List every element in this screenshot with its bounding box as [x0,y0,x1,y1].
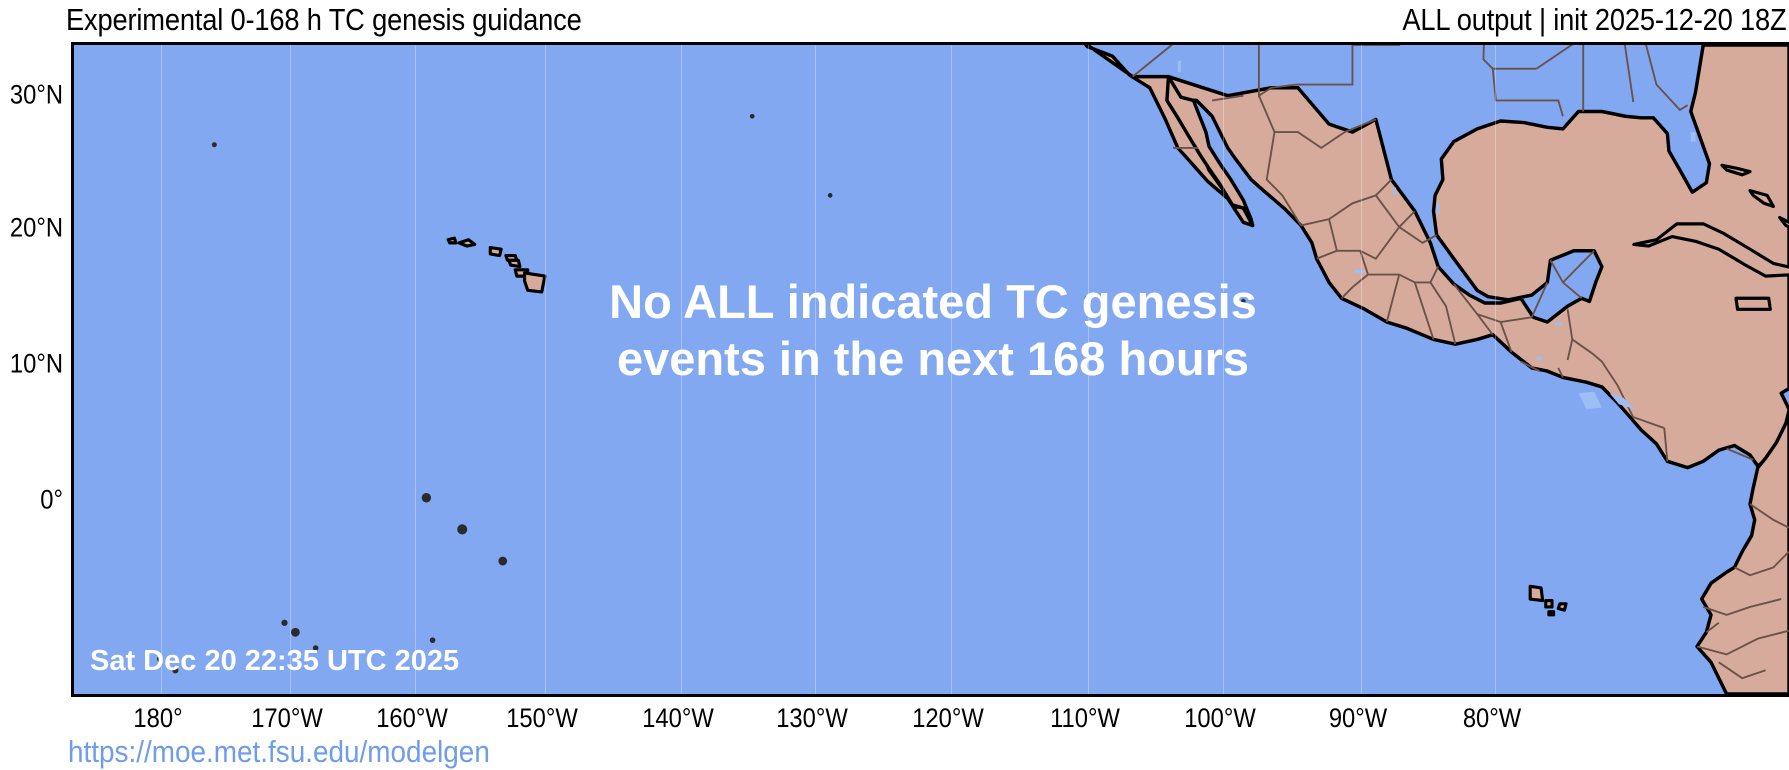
y-tick-label: 0° [40,485,63,516]
timestamp-label: Sat Dec 20 22:35 UTC 2025 [90,645,459,678]
island-group-hawaii [448,238,545,292]
x-tick-label: 180° [133,703,182,734]
x-tick-label: 130°W [776,703,848,734]
x-tick-label: 150°W [506,703,578,734]
page-title: Experimental 0-168 h TC genesis guidance [66,2,582,38]
x-tick-label: 90°W [1329,703,1387,734]
output-init-label: ALL output | init 2025-12-20 18Z [1403,2,1787,38]
source-url-link[interactable]: https://moe.met.fsu.edu/modelgen [68,734,490,770]
island-jamaica [1736,298,1770,309]
landmass-north-america [1009,45,1789,468]
y-tick-label: 10°N [10,349,63,380]
y-tick-label: 20°N [10,213,63,244]
x-tick-label: 170°W [251,703,323,734]
y-tick-label: 30°N [10,80,63,111]
x-tick-label: 100°W [1184,703,1256,734]
x-tick-label: 120°W [912,703,984,734]
small-islands-dots [157,114,1246,674]
header-bar: Experimental 0-168 h TC genesis guidance… [0,0,1789,40]
x-tick-label: 80°W [1463,703,1521,734]
island-group-galapagos [1530,586,1566,614]
map-plot-area[interactable]: No ALL indicated TC genesis events in th… [71,42,1789,697]
x-tick-label: 110°W [1050,703,1120,734]
world-map-graphic [74,45,1789,694]
x-tick-label: 160°W [376,703,448,734]
x-tick-label: 140°W [642,703,714,734]
